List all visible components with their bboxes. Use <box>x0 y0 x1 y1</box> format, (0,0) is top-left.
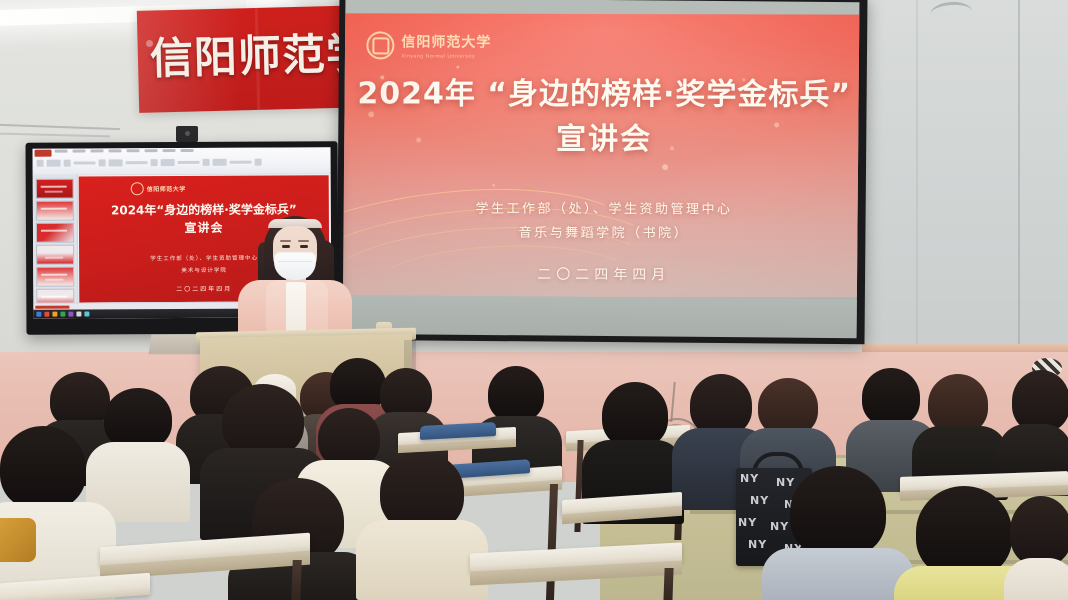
wall-banner: 信阳师范学院 <box>137 5 371 113</box>
ribbon-icon[interactable] <box>37 160 44 167</box>
ribbon-tab[interactable] <box>127 149 140 152</box>
student-head <box>1010 496 1068 566</box>
taskbar-icon[interactable] <box>68 312 73 317</box>
screenshot-stage: 信阳师范学院 <box>0 0 1068 600</box>
presenter-brow-right <box>298 240 309 242</box>
slide-vignette <box>344 13 860 297</box>
presenter <box>236 216 354 344</box>
presenter-cardigan-left-panel <box>266 280 286 338</box>
ribbon-icon[interactable] <box>109 159 123 166</box>
ribbon-icon[interactable] <box>151 159 158 166</box>
student-body <box>762 548 914 600</box>
ribbon-icon[interactable] <box>47 160 61 167</box>
ribbon-icon[interactable] <box>203 159 210 166</box>
university-seal-icon <box>131 182 144 195</box>
projection-screen: 信阳师范大学 Xinyang Normal University 2024年 “… <box>336 0 867 344</box>
student-bag-patch <box>0 518 36 562</box>
student-head <box>602 382 668 448</box>
projected-slide: 信阳师范大学 Xinyang Normal University 2024年 “… <box>344 13 860 297</box>
student-body <box>1004 558 1068 600</box>
slide-thumbnail[interactable] <box>36 223 74 243</box>
student-head <box>690 374 752 436</box>
ribbon-icon[interactable] <box>230 161 252 164</box>
student-head <box>928 374 988 434</box>
ribbon-tab-row[interactable] <box>55 149 194 153</box>
slide-thumbnail[interactable] <box>36 201 74 221</box>
tote-monogram: NY <box>740 472 759 485</box>
tote-monogram: NY <box>776 476 795 489</box>
ribbon-icon[interactable] <box>74 161 96 164</box>
face-mask-fold <box>278 261 312 262</box>
ribbon-icon[interactable] <box>161 159 175 166</box>
student-head <box>1012 370 1068 432</box>
slide-thumbnail-panel[interactable] <box>33 175 79 319</box>
tote-monogram: NY <box>748 538 767 551</box>
ribbon-tab[interactable] <box>109 149 122 152</box>
ribbon-tab[interactable] <box>181 149 194 152</box>
taskbar-icon[interactable] <box>44 312 49 317</box>
student-head <box>862 368 920 426</box>
student-head <box>488 366 544 422</box>
taskbar-icon[interactable] <box>52 312 57 317</box>
camera-lens-icon <box>185 131 190 136</box>
whiteboard-panel <box>862 0 1068 352</box>
ribbon-tab[interactable] <box>163 149 176 152</box>
tote-monogram: NY <box>738 516 757 529</box>
taskbar-icon[interactable] <box>60 312 65 317</box>
student-head <box>916 486 1012 578</box>
student-head <box>0 426 86 510</box>
ribbon-icon-group[interactable] <box>37 158 329 167</box>
ribbon-tab[interactable] <box>91 149 104 152</box>
ribbon-icon[interactable] <box>255 159 262 166</box>
desk-leg <box>291 560 301 600</box>
projection-blank-area <box>343 295 860 336</box>
slide-thumbnail[interactable] <box>36 179 74 199</box>
student-head <box>318 408 380 468</box>
ribbon-icon[interactable] <box>99 159 106 166</box>
presenter-eye-right <box>300 245 308 248</box>
file-menu-tab[interactable] <box>35 150 52 157</box>
presenter-brow-left <box>280 240 291 242</box>
taskbar-icon[interactable] <box>36 312 41 317</box>
student-head <box>222 384 304 458</box>
tote-monogram: NY <box>770 520 789 533</box>
tote-monogram: NY <box>750 494 769 507</box>
banner-pin <box>146 40 153 47</box>
whiteboard-seam-2 <box>916 0 918 352</box>
taskbar-icon[interactable] <box>84 311 89 316</box>
ribbon-icon[interactable] <box>213 159 227 166</box>
slide-thumbnail[interactable] <box>36 267 74 287</box>
ribbon-tab[interactable] <box>145 149 158 152</box>
student-body <box>356 520 488 600</box>
ribbon-tab[interactable] <box>55 150 68 153</box>
desk-leg <box>663 568 673 600</box>
ribbon-tab[interactable] <box>73 150 86 153</box>
ribbon-icon[interactable] <box>64 160 71 167</box>
presenter-eye-left <box>282 245 290 248</box>
slide-thumbnail[interactable] <box>36 245 74 265</box>
whiteboard-seam <box>1018 0 1020 352</box>
mini-logo-cn: 信阳师范大学 <box>147 184 186 193</box>
ribbon-icon[interactable] <box>178 161 200 164</box>
mini-slide-logo: 信阳师范大学 <box>131 182 186 195</box>
student-head <box>790 466 886 558</box>
status-bar-indicator <box>35 306 69 309</box>
ribbon-icon[interactable] <box>126 161 148 164</box>
app-ribbon[interactable] <box>33 147 331 176</box>
student-head <box>104 388 172 450</box>
desk-leg <box>546 484 558 600</box>
taskbar-icon[interactable] <box>76 312 81 317</box>
projection-surface: 信阳师范大学 Xinyang Normal University 2024年 “… <box>343 0 860 338</box>
